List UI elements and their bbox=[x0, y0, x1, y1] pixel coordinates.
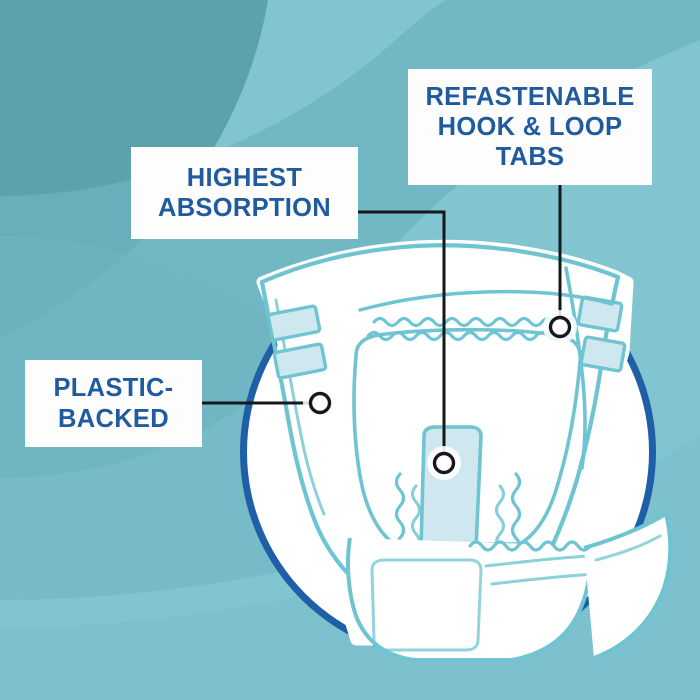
callout-plastic-line-2: BACKED bbox=[58, 404, 169, 434]
connector-highest-absorption bbox=[358, 212, 444, 463]
marker-plastic-backed[interactable] bbox=[311, 394, 330, 413]
marker-refastenable[interactable] bbox=[551, 318, 570, 337]
infographic-canvas: REFASTENABLE HOOK & LOOP TABS HIGHEST AB… bbox=[0, 0, 700, 700]
marker-highest-absorption[interactable] bbox=[435, 454, 454, 473]
callout-absorption-line-2: ABSORPTION bbox=[158, 193, 331, 223]
callout-refastenable-line-2: HOOK & LOOP bbox=[438, 112, 623, 142]
callout-plastic-line-1: PLASTIC- bbox=[54, 373, 174, 403]
callout-plastic-backed[interactable]: PLASTIC- BACKED bbox=[25, 360, 202, 447]
callout-refastenable-line-3: TABS bbox=[496, 142, 565, 172]
callout-highest-absorption[interactable]: HIGHEST ABSORPTION bbox=[131, 147, 358, 239]
callout-refastenable-line-1: REFASTENABLE bbox=[425, 82, 634, 112]
callout-absorption-line-1: HIGHEST bbox=[187, 163, 302, 193]
callout-refastenable-hook-loop-tabs[interactable]: REFASTENABLE HOOK & LOOP TABS bbox=[408, 69, 652, 185]
